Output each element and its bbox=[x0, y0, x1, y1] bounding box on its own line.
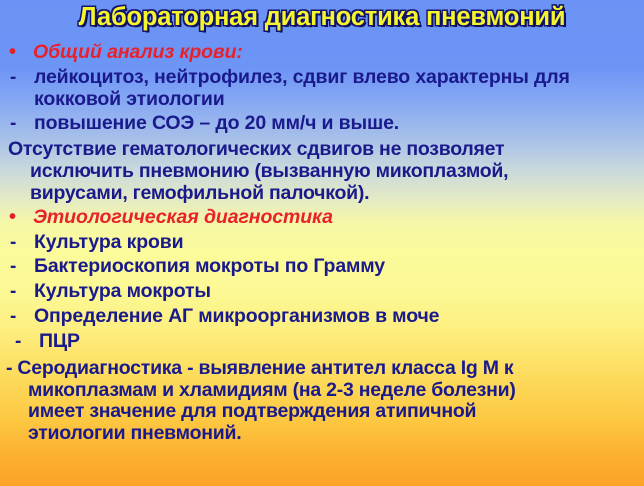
list-item-label: Бактериоскопия мокроты по Грамму bbox=[34, 256, 640, 278]
section-heading-label: Этиологическая диагностика bbox=[33, 207, 640, 229]
list-item: - Определение АГ микроорганизмов в моче bbox=[4, 306, 640, 328]
list-item: - Культура мокроты bbox=[4, 281, 640, 303]
paragraph-line: этиологии пневмоний. bbox=[6, 423, 640, 445]
dash-icon: - bbox=[4, 67, 34, 88]
list-item-label: Определение АГ микроорганизмов в моче bbox=[34, 306, 640, 328]
page-title: Лабораторная диагностика пневмоний bbox=[79, 2, 566, 32]
list-item: - Бактериоскопия мокроты по Грамму bbox=[4, 256, 640, 278]
list-item-label: Культура мокроты bbox=[34, 281, 640, 303]
list-item: - повышение СОЭ – до 20 мм/ч и выше. bbox=[4, 113, 640, 135]
list-item-label: Культура крови bbox=[34, 232, 640, 254]
paragraph-hematology-note: Отсутствие гематологических сдвигов не п… bbox=[4, 139, 640, 204]
dash-icon: - bbox=[4, 281, 34, 302]
title-container: Лабораторная диагностика пневмоний bbox=[0, 2, 644, 32]
paragraph-line: Отсутствие гематологических сдвигов не п… bbox=[8, 138, 504, 160]
list-item-label: лейкоцитоз, нейтрофилез, сдвиг влево хар… bbox=[34, 67, 640, 111]
dash-icon: - bbox=[4, 306, 34, 327]
paragraph-line: - Серодиагностика - выявление антител кл… bbox=[6, 357, 513, 379]
paragraph-line: имеет значение для подтверждения атипичн… bbox=[6, 401, 640, 423]
list-item: - ПЦР bbox=[4, 331, 640, 353]
section-heading-label: Общий анализ крови: bbox=[33, 42, 640, 64]
section-heading-etiological-diagnostics: • Этиологическая диагностика bbox=[4, 207, 640, 229]
list-item: - Культура крови bbox=[4, 232, 640, 254]
dash-icon: - bbox=[4, 113, 34, 134]
slide-body: • Общий анализ крови: - лейкоцитоз, нейт… bbox=[0, 40, 644, 445]
paragraph-line: исключить пневмонию (вызванную микоплазм… bbox=[8, 161, 640, 183]
list-item: - лейкоцитоз, нейтрофилез, сдвиг влево х… bbox=[4, 67, 640, 111]
slide-canvas: Лабораторная диагностика пневмоний • Общ… bbox=[0, 0, 644, 486]
paragraph-serodiagnostics: - Серодиагностика - выявление антител кл… bbox=[4, 358, 640, 445]
paragraph-line: вирусами, гемофильной палочкой). bbox=[8, 183, 640, 205]
dash-icon: - bbox=[4, 232, 34, 253]
paragraph-line: микоплазмам и хламидиям (на 2-3 неделе б… bbox=[6, 380, 640, 402]
bullet-icon: • bbox=[4, 207, 33, 228]
dash-icon: - bbox=[4, 331, 39, 352]
list-item-label: ПЦР bbox=[39, 331, 640, 353]
list-item-label: повышение СОЭ – до 20 мм/ч и выше. bbox=[34, 113, 640, 135]
dash-icon: - bbox=[4, 256, 34, 277]
bullet-icon: • bbox=[4, 42, 33, 63]
section-heading-blood-analysis: • Общий анализ крови: bbox=[4, 42, 640, 64]
